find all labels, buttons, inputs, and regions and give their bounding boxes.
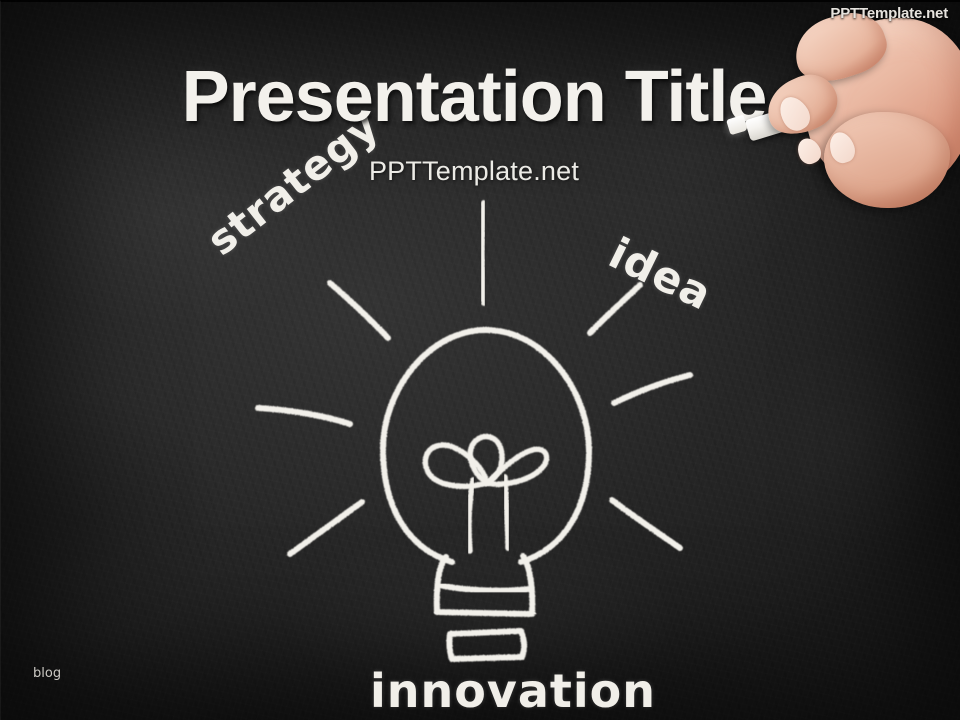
ray-upper-right: [590, 285, 640, 333]
chalk-word-innovation: innovation: [370, 664, 656, 718]
ray-upper-left: [330, 283, 388, 338]
watermark-label: PPTTemplate.net: [830, 5, 948, 22]
ray-right: [614, 375, 690, 403]
ray-left: [258, 408, 350, 424]
blog-label[interactable]: blog: [33, 666, 61, 681]
chalk-tip: [726, 115, 748, 136]
ray-lower-right: [612, 500, 680, 548]
hand-holding-chalk: [720, 0, 960, 230]
ray-lower-left: [290, 502, 362, 554]
filament-leg-left: [469, 480, 473, 551]
ray-top: [482, 203, 484, 303]
bulb-base-bottom-edge: [437, 612, 533, 614]
bulb-contact-block: [449, 631, 524, 659]
bulb-glass-outline: [383, 330, 589, 562]
filament-leg-right: [505, 477, 508, 548]
filament-loop-left: [425, 445, 487, 486]
bulb-base-band: [439, 585, 531, 591]
presentation-slide: strategy idea innovation Presentation Ti…: [0, 0, 960, 720]
